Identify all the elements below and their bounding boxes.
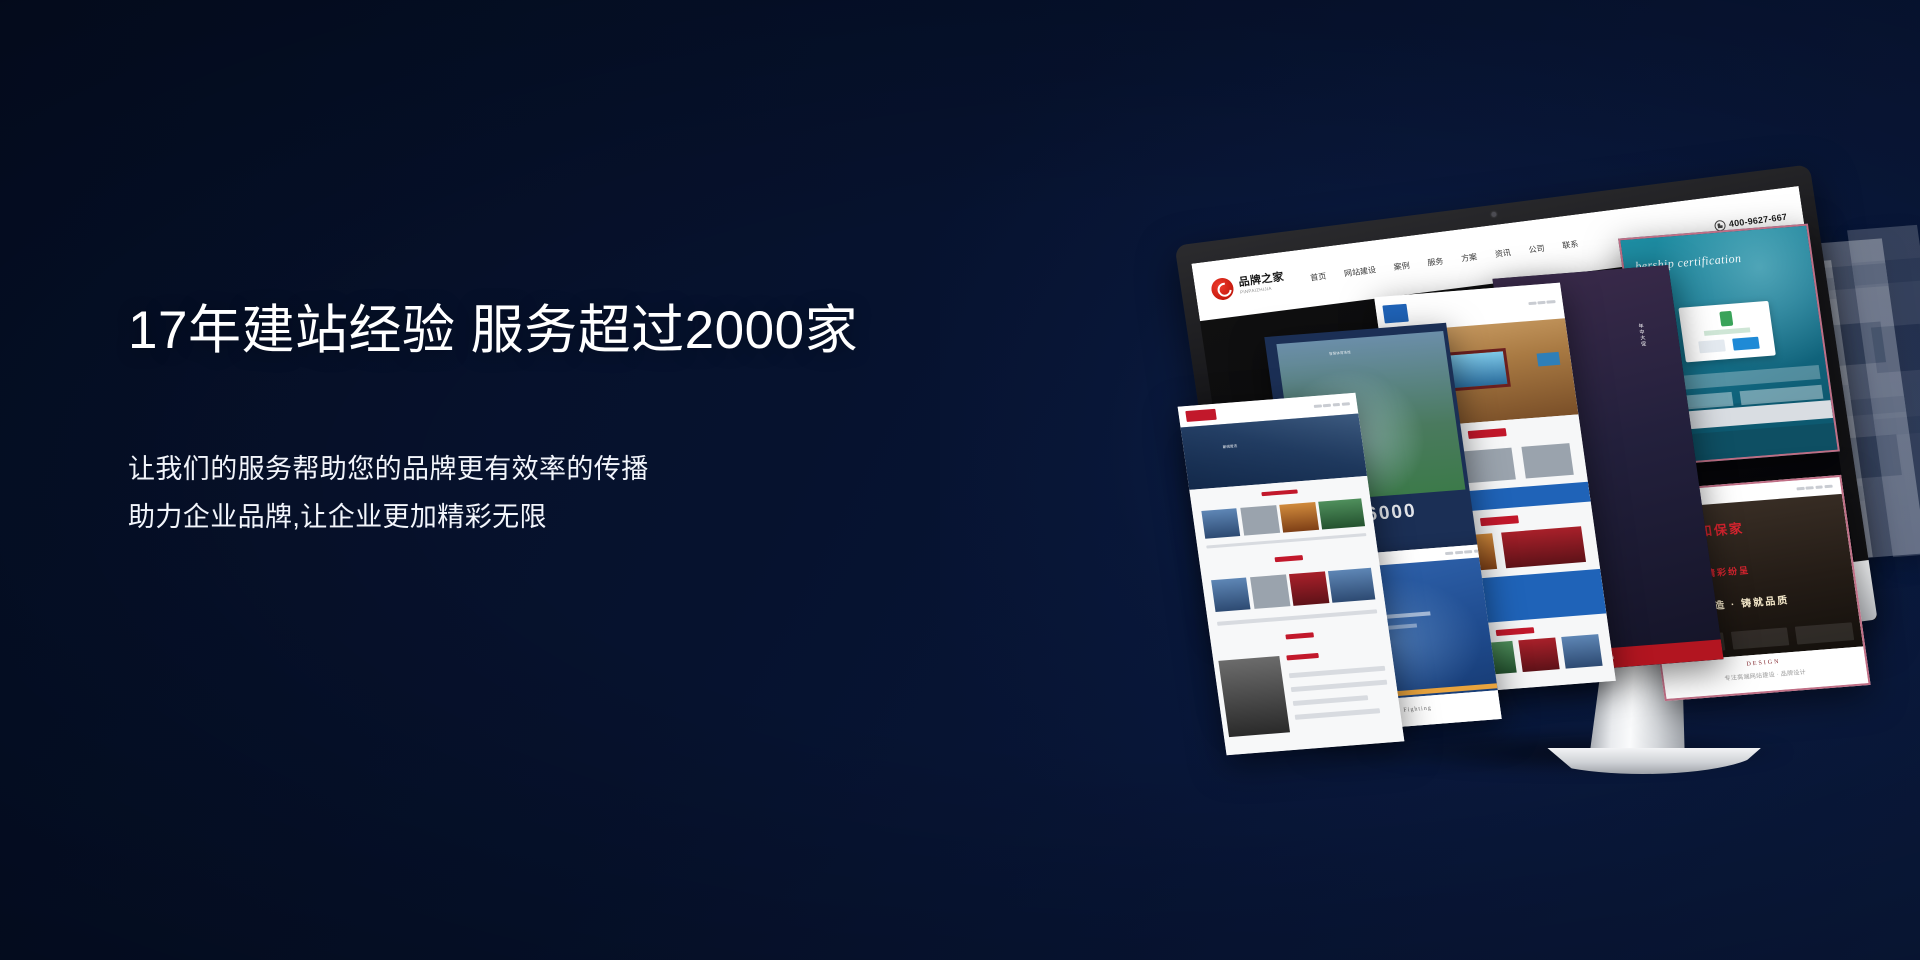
site-logo[interactable]: 品牌之家 PINPAIZHIJIA [1210, 270, 1286, 301]
cancel-button[interactable] [1698, 339, 1726, 353]
monitor-scene: 品牌之家 PINPAIZHIJIA 首页 网站建设 案例 服务 方案 资讯 公司… [1210, 170, 1920, 790]
nav-item-0[interactable]: 首页 [1310, 270, 1327, 283]
confirm-button[interactable] [1732, 337, 1760, 351]
page-title: 17年建站经验 服务超过2000家 [128, 300, 1108, 363]
nav-item-1[interactable]: 网站建设 [1343, 264, 1376, 279]
hero-subtitle-line-1: 让我们的服务帮助您的品牌更有效率的传播 [128, 445, 1108, 493]
hero-subtitle-line-2: 助力企业品牌,让企业更加精彩无限 [128, 493, 1108, 541]
nav-item-3[interactable]: 服务 [1427, 255, 1444, 268]
hero-copy-block: 17年建站经验 服务超过2000家 让我们的服务帮助您的品牌更有效率的传播 助力… [128, 300, 1108, 541]
nav-item-2[interactable]: 案例 [1393, 260, 1410, 273]
nav-item-4[interactable]: 方案 [1460, 251, 1477, 264]
nav-item-7[interactable]: 联系 [1562, 238, 1579, 251]
hero-subtitle: 让我们的服务帮助您的品牌更有效率的传播 助力企业品牌,让企业更加精彩无限 [128, 445, 1108, 541]
brand-logo-icon [1210, 277, 1235, 302]
nav-item-6[interactable]: 公司 [1528, 242, 1545, 255]
nav-item-5[interactable]: 资讯 [1494, 247, 1511, 260]
